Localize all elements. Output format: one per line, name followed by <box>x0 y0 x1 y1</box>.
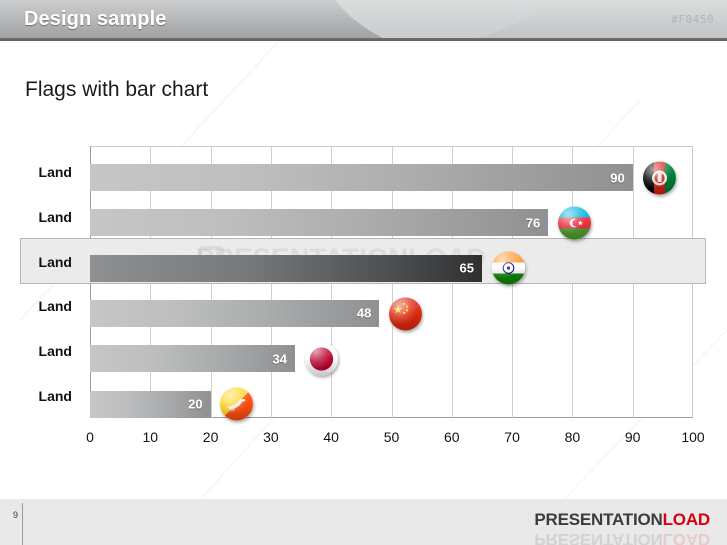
y-axis-label-3: Land <box>0 298 72 314</box>
chart-row: 90 <box>90 155 693 200</box>
bar-4[interactable]: 34 <box>90 345 295 372</box>
bar-2[interactable]: 65 <box>90 255 482 282</box>
bar-value-3: 48 <box>357 306 371 321</box>
x-axis-tick-60: 60 <box>444 429 460 445</box>
china-flag-icon <box>389 297 422 330</box>
x-axis-tick-100: 100 <box>681 429 704 445</box>
azerbaijan-flag-icon <box>558 206 591 239</box>
logo-reflect-presentation: PRESENTATION <box>534 530 662 545</box>
bhutan-flag-icon <box>220 388 253 421</box>
presentationload-logo-reflection: PRESENTATIONLOAD <box>534 529 710 545</box>
x-axis-tick-40: 40 <box>323 429 339 445</box>
chart-row: 65 <box>90 246 693 291</box>
bar-value-5: 20 <box>188 397 202 412</box>
x-axis-tick-20: 20 <box>203 429 219 445</box>
bar-0[interactable]: 90 <box>90 164 633 191</box>
slide-header: Design sample #F0450 <box>0 0 727 41</box>
x-axis-tick-90: 90 <box>625 429 641 445</box>
x-axis-tick-80: 80 <box>565 429 581 445</box>
presentationload-logo: PRESENTATIONLOAD <box>534 510 710 530</box>
india-flag-icon <box>492 252 525 285</box>
bar-3[interactable]: 48 <box>90 300 379 327</box>
y-axis-label-5: Land <box>0 388 72 404</box>
slide-footer: 9 PRESENTATIONLOAD PRESENTATIONLOAD <box>0 498 727 545</box>
slide: Design sample #F0450 Flags with bar char… <box>0 0 727 545</box>
chart-row: 34 <box>90 336 693 381</box>
bar-value-4: 34 <box>273 351 287 366</box>
x-axis-tick-50: 50 <box>384 429 400 445</box>
footer-divider <box>22 503 23 545</box>
header-bottom-rule <box>0 38 727 41</box>
japan-flag-icon <box>305 342 338 375</box>
afghanistan-flag-icon <box>643 161 676 194</box>
header-title: Design sample <box>24 8 166 31</box>
y-axis-label-2: Land <box>0 254 72 270</box>
header-id-code: #F0450 <box>671 13 714 26</box>
bar-chart: 90 76 <box>90 146 693 418</box>
x-axis-tick-70: 70 <box>504 429 520 445</box>
bar-1[interactable]: 76 <box>90 209 548 236</box>
bar-5[interactable]: 20 <box>90 391 211 418</box>
logo-reflect-load: LOAD <box>663 530 710 545</box>
bar-value-1: 76 <box>526 215 540 230</box>
bar-value-2: 65 <box>460 261 474 276</box>
x-axis-tick-30: 30 <box>263 429 279 445</box>
x-axis-tick-10: 10 <box>143 429 159 445</box>
logo-text-presentation: PRESENTATION <box>534 510 662 529</box>
logo-text-load: LOAD <box>663 510 710 529</box>
chart-row: 20 <box>90 382 693 427</box>
chart-row: 48 <box>90 291 693 336</box>
page-title: Flags with bar chart <box>25 78 208 102</box>
bar-value-0: 90 <box>610 170 624 185</box>
y-axis-label-4: Land <box>0 343 72 359</box>
y-axis-label-0: Land <box>0 164 72 180</box>
x-axis-tick-0: 0 <box>86 429 94 445</box>
page-number: 9 <box>13 510 18 520</box>
y-axis-label-1: Land <box>0 209 72 225</box>
